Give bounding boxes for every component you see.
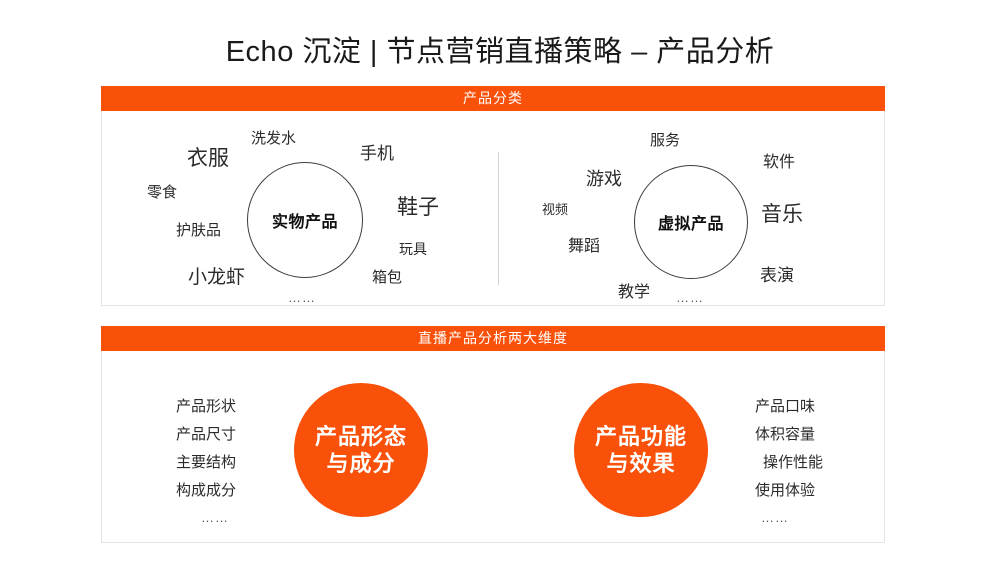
- keyword-teaching: 教学: [618, 285, 650, 301]
- keyword-phone: 手机: [360, 145, 394, 162]
- attribute-ellipsis: ……: [755, 511, 789, 524]
- ellipsis-virtual: ……: [676, 291, 704, 304]
- keyword-crayfish: 小龙虾: [188, 268, 245, 287]
- attribute-item: 体积容量: [755, 427, 815, 442]
- keyword-perform: 表演: [760, 267, 794, 284]
- disc-product-function: 产品功能 与效果: [574, 383, 708, 517]
- keyword-music: 音乐: [761, 204, 803, 225]
- disc-line-1: 产品功能: [595, 424, 687, 449]
- attribute-list-form: 产品形状 产品尺寸 主要结构 构成成分 ……: [176, 399, 236, 524]
- attribute-ellipsis: ……: [183, 511, 229, 524]
- keyword-shampoo: 洗发水: [251, 131, 296, 146]
- circle-virtual-products: 虚拟产品: [634, 165, 748, 279]
- attribute-item: 操作性能: [755, 455, 823, 470]
- attribute-item: 主要结构: [176, 455, 236, 470]
- circle-physical-products: 实物产品: [247, 162, 363, 278]
- page-title: Echo 沉淀 | 节点营销直播策略 – 产品分析: [0, 28, 1000, 70]
- circle-physical-label: 实物产品: [272, 208, 338, 232]
- attribute-item: 产品形状: [176, 399, 236, 414]
- disc-product-form-label: 产品形态 与成分: [315, 423, 407, 478]
- ellipsis-physical: ……: [288, 291, 316, 304]
- keyword-games: 游戏: [586, 170, 622, 188]
- disc-line-2: 与成分: [326, 451, 395, 476]
- disc-product-function-label: 产品功能 与效果: [595, 423, 687, 478]
- keyword-luggage: 箱包: [372, 270, 402, 285]
- keyword-snacks: 零食: [147, 185, 177, 200]
- circle-virtual-label: 虚拟产品: [658, 210, 724, 234]
- attribute-item: 产品尺寸: [176, 427, 236, 442]
- disc-line-2: 与效果: [606, 451, 675, 476]
- attribute-item: 使用体验: [755, 483, 815, 498]
- keyword-clothes: 衣服: [187, 148, 229, 169]
- keyword-video: 视频: [542, 203, 568, 216]
- keyword-toys: 玩具: [399, 242, 427, 256]
- attribute-item: 构成成分: [176, 483, 236, 498]
- keyword-skincare: 护肤品: [176, 223, 221, 238]
- product-classification-header: 产品分类: [101, 86, 885, 111]
- analysis-dimensions-header: 直播产品分析两大维度: [101, 326, 885, 351]
- keyword-service: 服务: [650, 133, 680, 148]
- keyword-shoes: 鞋子: [397, 197, 439, 218]
- attribute-list-function: 产品口味 体积容量 操作性能 使用体验 ……: [755, 399, 823, 524]
- attribute-item: 产品口味: [755, 399, 815, 414]
- disc-product-form: 产品形态 与成分: [294, 383, 428, 517]
- disc-line-1: 产品形态: [315, 424, 407, 449]
- keyword-dance: 舞蹈: [568, 239, 600, 255]
- keyword-software: 软件: [763, 155, 795, 171]
- cluster-divider: [498, 152, 499, 285]
